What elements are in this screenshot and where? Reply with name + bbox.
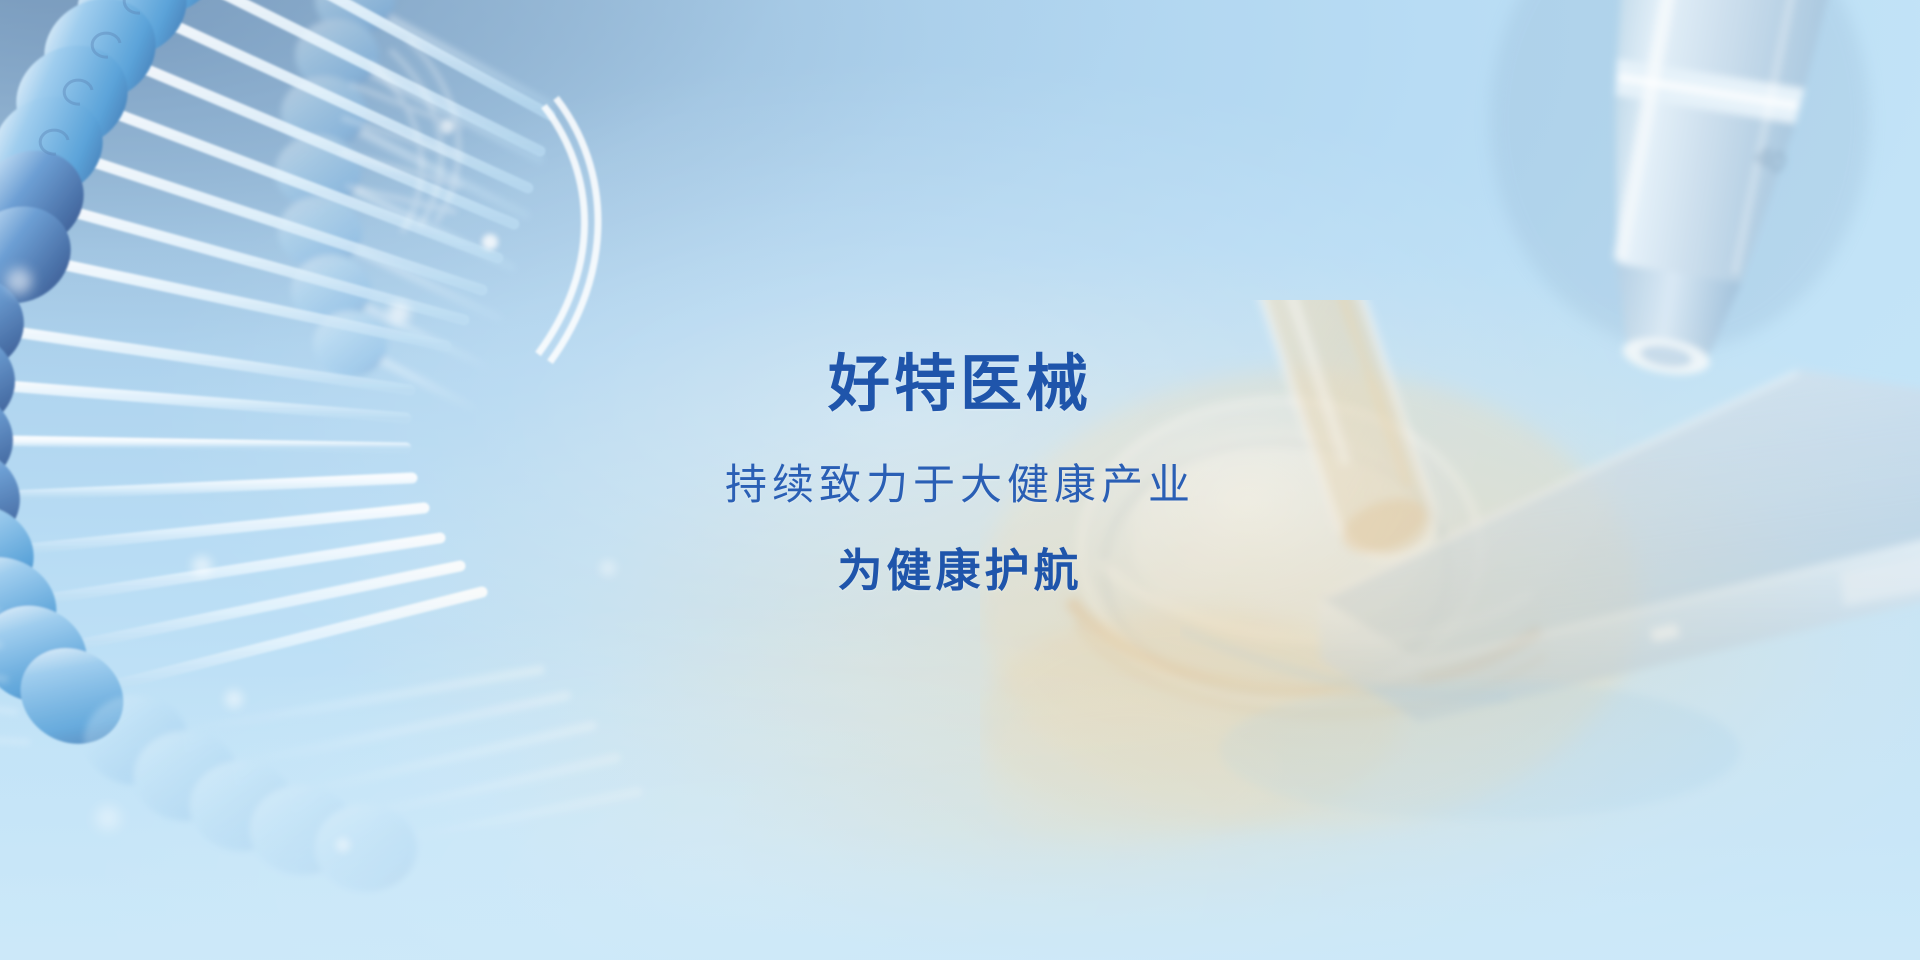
page-title: 好特医械 xyxy=(0,352,1920,418)
hero-banner: 40 好特医械 持续致力于大健康产业 为健康护航 xyxy=(0,0,1920,960)
hero-text-block: 好特医械 持续致力于大健康产业 为健康护航 xyxy=(0,352,1920,595)
hero-tagline: 为健康护航 xyxy=(0,546,1920,596)
hero-subtitle: 持续致力于大健康产业 xyxy=(0,462,1920,508)
